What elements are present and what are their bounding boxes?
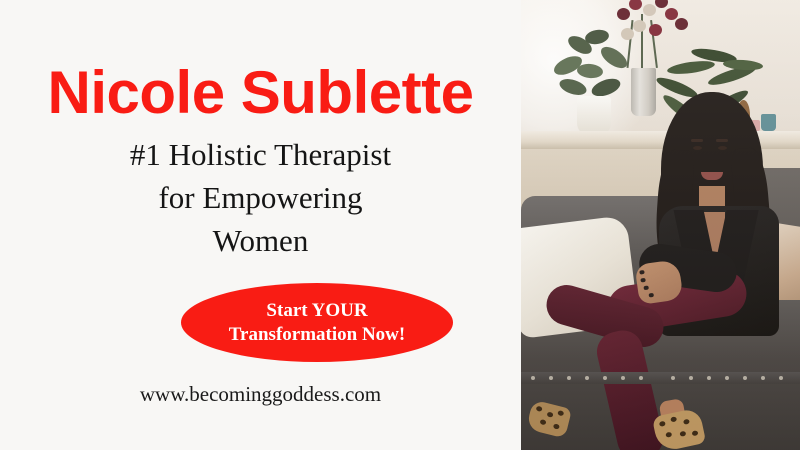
tagline-line-1: #1 Holistic Therapist bbox=[0, 133, 521, 176]
text-panel: Nicole Sublette #1 Holistic Therapist fo… bbox=[0, 0, 521, 450]
tagline: #1 Holistic Therapist for Empowering Wom… bbox=[0, 133, 521, 262]
teal-cup bbox=[761, 114, 776, 131]
website-url[interactable]: www.becominggoddess.com bbox=[0, 382, 521, 406]
sofa-nailhead-trim bbox=[521, 372, 800, 384]
portrait-photo bbox=[521, 0, 800, 450]
cta-line-2: Transformation Now! bbox=[229, 323, 405, 347]
tagline-line-2: for Empowering bbox=[0, 176, 521, 219]
page-title: Nicole Sublette bbox=[0, 61, 521, 125]
start-transformation-button[interactable]: Start YOUR Transformation Now! bbox=[181, 283, 453, 362]
eye-left bbox=[693, 146, 702, 150]
promo-banner: Nicole Sublette #1 Holistic Therapist fo… bbox=[0, 0, 800, 450]
eye-right bbox=[718, 146, 727, 150]
eyebrow-left bbox=[691, 139, 703, 142]
eyebrow-right bbox=[716, 139, 728, 142]
flower-pot bbox=[577, 96, 611, 136]
cta-line-1: Start YOUR bbox=[266, 299, 367, 323]
tagline-line-3: Women bbox=[0, 219, 521, 262]
